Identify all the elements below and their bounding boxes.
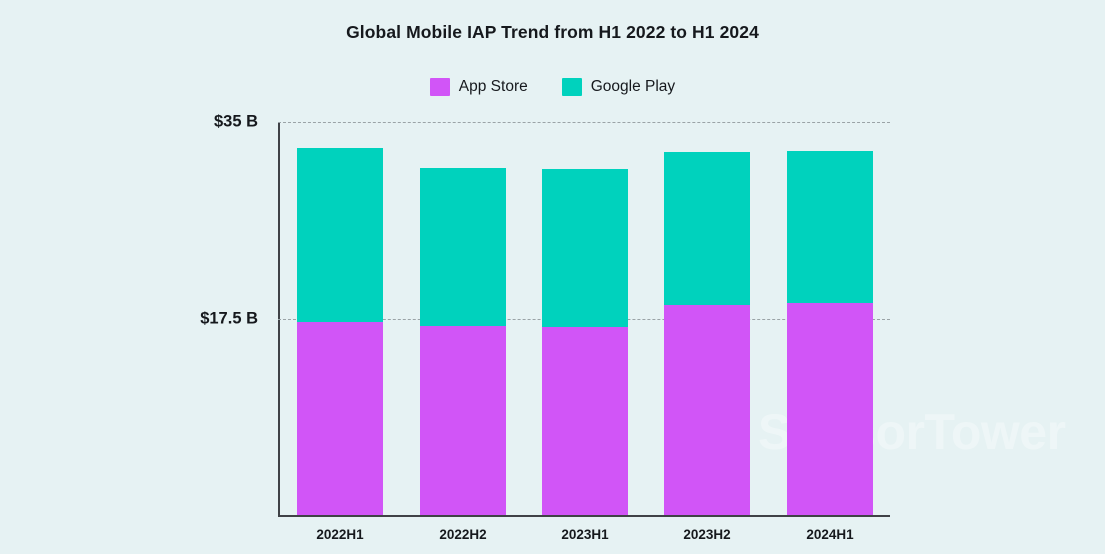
- chart-legend: App Store Google Play: [0, 78, 1105, 96]
- x-axis-label-2022h2: 2022H2: [439, 527, 486, 542]
- chart-title: Global Mobile IAP Trend from H1 2022 to …: [0, 22, 1105, 43]
- y-axis-label-35: $35 B: [214, 113, 258, 132]
- legend-label-google-play: Google Play: [591, 78, 675, 96]
- x-axis-label-2024h1: 2024H1: [806, 527, 853, 542]
- plot-area: SensorTower: [278, 122, 890, 515]
- y-axis-labels: $35 B $17.5 B: [0, 122, 278, 515]
- chart-container: Global Mobile IAP Trend from H1 2022 to …: [0, 0, 1105, 554]
- bar-segment-app-store-2023h2[interactable]: [664, 305, 750, 515]
- bar-group-2023h2[interactable]: [664, 152, 750, 515]
- bar-segment-app-store-2023h1[interactable]: [542, 327, 628, 515]
- bar-group-2022h1[interactable]: [297, 148, 383, 515]
- x-axis-label-2023h2: 2023H2: [683, 527, 730, 542]
- bar-segment-google-play-2023h2[interactable]: [664, 152, 750, 305]
- legend-item-google-play[interactable]: Google Play: [562, 78, 675, 96]
- legend-swatch-google-play: [562, 78, 582, 96]
- x-axis-label-2022h1: 2022H1: [316, 527, 363, 542]
- bar-segment-app-store-2024h1[interactable]: [787, 303, 873, 515]
- x-axis-labels: 2022H12022H22023H12023H22024H1: [278, 527, 890, 551]
- legend-label-app-store: App Store: [459, 78, 528, 96]
- x-axis-line: [278, 515, 890, 517]
- bar-group-2024h1[interactable]: [787, 151, 873, 515]
- bar-segment-app-store-2022h1[interactable]: [297, 322, 383, 515]
- legend-swatch-app-store: [430, 78, 450, 96]
- legend-item-app-store[interactable]: App Store: [430, 78, 528, 96]
- bar-segment-google-play-2024h1[interactable]: [787, 151, 873, 303]
- bar-segment-google-play-2022h1[interactable]: [297, 148, 383, 322]
- bar-series-group: [278, 122, 890, 515]
- bar-group-2023h1[interactable]: [542, 169, 628, 515]
- x-axis-label-2023h1: 2023H1: [561, 527, 608, 542]
- bar-segment-google-play-2022h2[interactable]: [420, 168, 506, 326]
- y-axis-label-17-5: $17.5 B: [200, 309, 258, 328]
- bar-segment-google-play-2023h1[interactable]: [542, 169, 628, 327]
- bar-group-2022h2[interactable]: [420, 168, 506, 515]
- bar-segment-app-store-2022h2[interactable]: [420, 326, 506, 515]
